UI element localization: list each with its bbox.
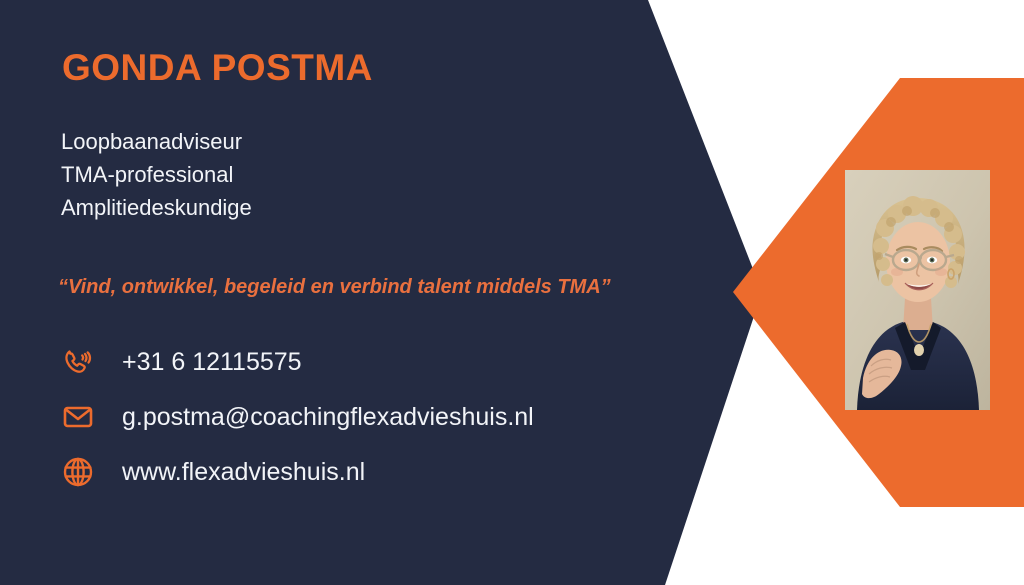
email-address: g.postma@coachingflexadvieshuis.nl <box>122 405 534 430</box>
phone-ringing-icon <box>56 340 100 384</box>
contact-row-phone[interactable]: +31 6 12115575 <box>56 340 534 384</box>
business-card: GONDA POSTMA Loopbaanadviseur TMA-profes… <box>0 0 1024 585</box>
portrait-photo <box>845 170 990 410</box>
role-list: Loopbaanadviseur TMA-professional Amplit… <box>61 125 252 224</box>
role-line: TMA-professional <box>61 158 252 191</box>
portrait-illustration <box>845 170 990 410</box>
contact-row-email[interactable]: g.postma@coachingflexadvieshuis.nl <box>56 395 534 439</box>
contact-list: +31 6 12115575 g.postma@coachingflexadvi… <box>56 340 534 494</box>
globe-icon <box>56 450 100 494</box>
role-line: Loopbaanadviseur <box>61 125 252 158</box>
phone-number: +31 6 12115575 <box>122 350 302 375</box>
card-content: GONDA POSTMA Loopbaanadviseur TMA-profes… <box>0 0 700 585</box>
website-url: www.flexadvieshuis.nl <box>122 460 365 485</box>
role-line: Amplitiedeskundige <box>61 191 252 224</box>
page-title: GONDA POSTMA <box>62 48 373 89</box>
tagline: “Vind, ontwikkel, begeleid en verbind ta… <box>58 276 611 299</box>
envelope-icon <box>56 395 100 439</box>
contact-row-website[interactable]: www.flexadvieshuis.nl <box>56 450 534 494</box>
